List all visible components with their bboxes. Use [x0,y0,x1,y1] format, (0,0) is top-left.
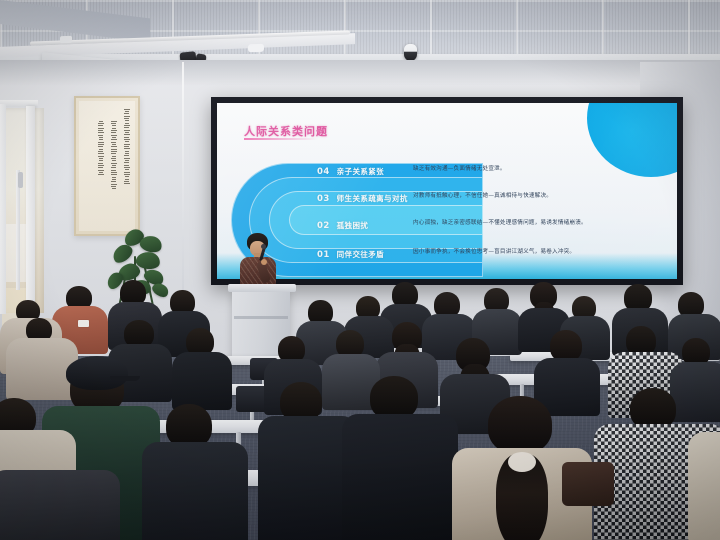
slide-title: 人际关系类问题 [244,123,328,139]
door-handle-icon[interactable] [18,172,23,188]
calligraphy-column [96,106,106,228]
presenter-hand [261,259,267,265]
slide-item-label: 孤独困扰 [337,220,369,231]
track-light-mount [60,36,72,43]
track-light-mount-2 [248,44,264,53]
calligraphy-column [109,106,119,228]
security-camera-icon [404,44,417,61]
slide-item-label: 亲子关系紧张 [337,166,384,177]
calligraphy-scroll-frame [74,96,140,236]
podium-top-surface [228,284,296,292]
slide-desc-04: 缺乏有效沟通—负面情绪无处宣泄。 [413,166,506,173]
slide-desc-03: 对教师有抵触心理，不信任她—真诚相待与快速解决。 [413,193,552,200]
door-frame-outer [0,104,6,314]
lecture-hall-photo: 人际关系类问题 04 亲子关系紧张 03 师生关系疏离与对抗 02 [0,0,720,540]
doorway-daylight [0,108,44,313]
slide-item-label: 同伴交往矛盾 [337,249,384,260]
podium-shelf-line [234,316,288,319]
door-mullion [16,170,20,290]
name-badge [78,320,89,327]
projection-screen[interactable]: 人际关系类问题 04 亲子关系紧张 03 师生关系疏离与对抗 02 [217,103,677,279]
slide-item-number: 02 [317,221,330,231]
wall-top-shadow [0,60,720,86]
slide-title-underline [244,138,318,140]
slide-item-number: 04 [317,167,330,177]
calligraphy-column [122,106,132,228]
calligraphy-columns [83,106,132,228]
presentation-slide: 人际关系类问题 04 亲子关系紧张 03 师生关系疏离与对抗 02 [217,103,677,279]
door-frame-inner[interactable] [26,106,35,314]
slide-item-number: 03 [317,194,330,204]
slide-item-label: 师生关系疏离与对抗 [337,193,408,204]
slide-decoration-circle [587,103,677,177]
slide-item-number: 01 [317,250,330,260]
slide-item-labels: 04 亲子关系紧张 03 师生关系疏离与对抗 02 孤独困扰 01 同伴交往矛盾 [307,161,485,277]
slide-desc-02: 内心孤独，缺乏亲密感联结—不懂处理感情问题，易诱发情绪崩溃。 [413,220,587,227]
microphone-head [261,244,266,249]
slide-desc-01: 因小事而争执，不会换位思考—盲目讲江湖义气，易卷入冲突。 [413,249,575,256]
